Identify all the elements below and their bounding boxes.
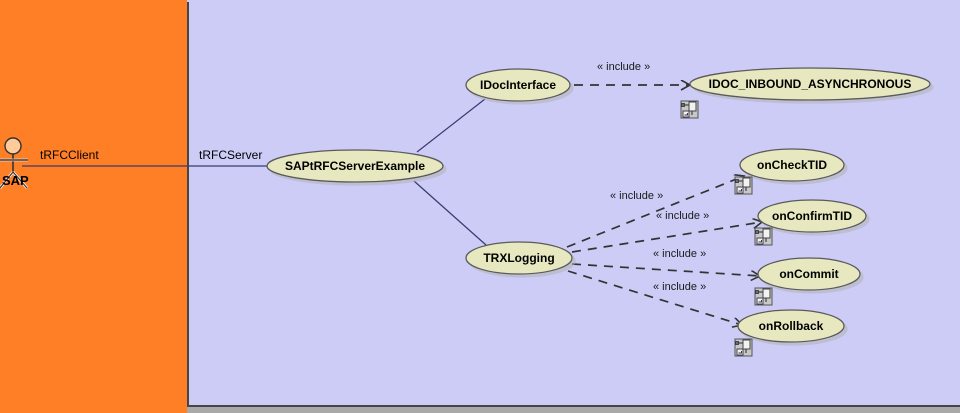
association-label-trfcclient: tRFCClient xyxy=(40,148,99,162)
actor-label-sap: SAP xyxy=(2,173,29,188)
system-boundary-top-edge xyxy=(187,0,960,2)
actor-region-trfcclient xyxy=(0,0,187,413)
diagram-canvas: SAPtRFCServerExample IDocInterface IDOC_… xyxy=(0,0,960,413)
system-boundary-trfcserver xyxy=(187,0,960,407)
association-label-trfcserver: tRFCServer xyxy=(199,148,262,162)
